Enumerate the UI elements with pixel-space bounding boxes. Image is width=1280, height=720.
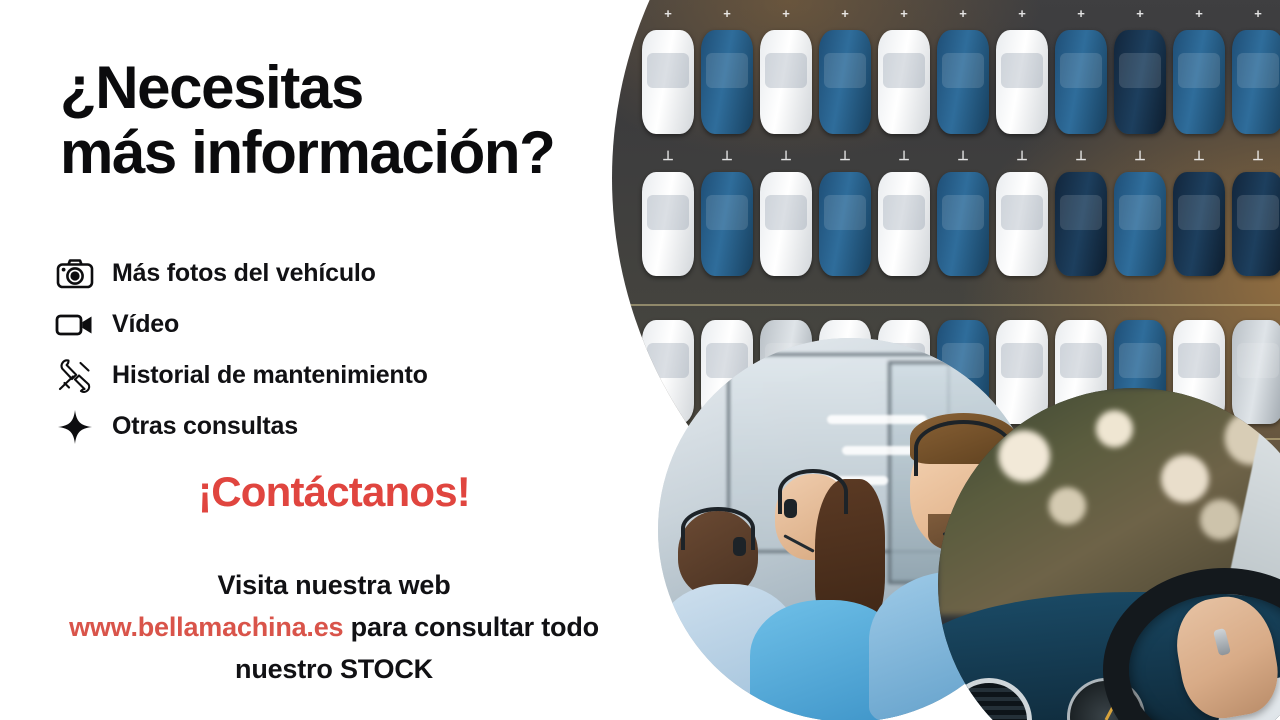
sparkle-icon <box>52 407 98 447</box>
website-line-2-rest: para consultar todo <box>343 612 599 642</box>
website-line-3: nuestro STOCK <box>0 649 668 691</box>
list-item: Otras consultas <box>52 401 652 452</box>
promo-poster: +++++++++++++++ ⊥⊥⊥⊥⊥⊥⊥⊥⊥⊥⊥⊥⊥⊥⊥ <box>0 0 1280 720</box>
website-line-2: www.bellamachina.es para consultar todo <box>0 607 668 649</box>
driving-steering-wheel-photo <box>938 388 1280 720</box>
feature-label: Historial de mantenimiento <box>112 361 428 390</box>
feature-label: Más fotos del vehículo <box>112 259 376 288</box>
website-block: Visita nuestra web www.bellamachina.es p… <box>0 565 668 691</box>
list-item: Vídeo <box>52 299 652 350</box>
headline-line-1: ¿Necesitas <box>60 56 680 121</box>
content-panel: ¿Necesitas más información? Más fotos de… <box>0 0 700 720</box>
feature-list: Más fotos del vehículo Vídeo <box>52 248 652 452</box>
website-line-1: Visita nuestra web <box>0 565 668 607</box>
website-url[interactable]: www.bellamachina.es <box>69 612 343 642</box>
headline-line-2: más información? <box>60 121 680 186</box>
page-title: ¿Necesitas más información? <box>60 56 680 186</box>
feature-label: Otras consultas <box>112 412 298 441</box>
video-icon <box>52 305 98 345</box>
wrench-icon <box>52 356 98 396</box>
camera-icon <box>52 254 98 294</box>
feature-label: Vídeo <box>112 310 179 339</box>
list-item: Historial de mantenimiento <box>52 350 652 401</box>
cta-text: ¡Contáctanos! <box>0 468 668 516</box>
list-item: Más fotos del vehículo <box>52 248 652 299</box>
